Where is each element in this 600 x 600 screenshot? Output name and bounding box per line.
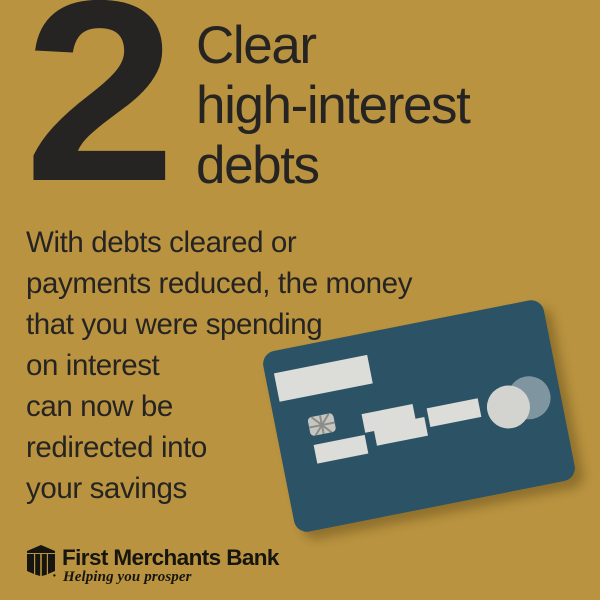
brand-lockup: First Merchants Bank Helping you prosper [26, 543, 326, 587]
brand-name: First Merchants Bank [62, 545, 279, 571]
first-merchants-cube-mark-icon [26, 545, 56, 577]
headline-line-3: debts [196, 136, 600, 196]
body-line-1: With debts cleared or [26, 222, 496, 263]
brand-tagline: Helping you prosper [63, 569, 192, 586]
headline-line-2: high-interest [196, 76, 600, 136]
page-title: Clear high-interest debts [196, 16, 600, 196]
card-number-block-3 [427, 398, 482, 427]
chip-line-diagonal-2 [311, 416, 333, 433]
body-line-2: payments reduced, the money [26, 263, 496, 304]
chip-line-diagonal-1 [314, 413, 329, 436]
card-chip-icon [307, 413, 336, 437]
headline-line-1: Clear [196, 16, 600, 76]
credit-card-illustration [268, 306, 578, 542]
promo-poster: 2 Clear high-interest debts With debts c… [0, 0, 600, 600]
step-number: 2 [24, 0, 170, 220]
headline-block: 2 Clear high-interest debts [0, 0, 600, 210]
card-name-strip [274, 355, 373, 402]
card-number-block-1 [314, 435, 369, 464]
credit-card-body [261, 298, 577, 534]
